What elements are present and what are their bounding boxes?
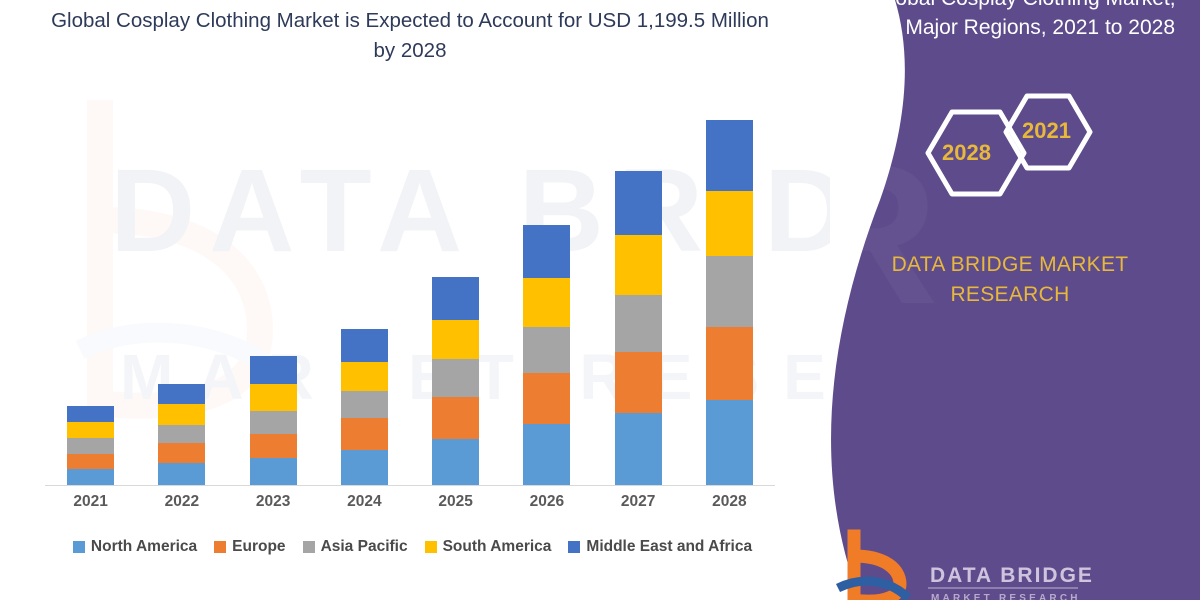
legend-swatch-icon	[425, 541, 437, 553]
bar-segment-asia-pacific	[615, 295, 662, 352]
x-axis-tick-label: 2027	[593, 493, 683, 511]
brand-name-text: DATA BRIDGE MARKET RESEARCH	[840, 250, 1180, 311]
chart-panel: DATA BRIDGE MARKET RESEARCH Global Cospl…	[0, 0, 830, 600]
bar-segment-north-america	[615, 413, 662, 485]
legend-swatch-icon	[303, 541, 315, 553]
bar-segment-middle-east-and-africa	[706, 120, 753, 191]
bar-segment-north-america	[67, 469, 114, 485]
stacked-bar	[615, 171, 662, 485]
bar-segment-south-america	[158, 404, 205, 425]
chart-title: Global Cosplay Clothing Market is Expect…	[40, 6, 780, 65]
bar-segment-europe	[250, 434, 297, 458]
stacked-bar	[250, 356, 297, 485]
x-axis-tick-label: 2026	[502, 493, 592, 511]
stacked-bar	[432, 277, 479, 485]
bar-column	[593, 120, 683, 485]
legend-label: Middle East and Africa	[586, 538, 752, 556]
x-axis-tick-label: 2022	[137, 493, 227, 511]
stacked-bar	[706, 120, 753, 485]
bar-segment-europe	[706, 327, 753, 400]
bar-segment-middle-east-and-africa	[432, 277, 479, 320]
bar-segment-asia-pacific	[432, 359, 479, 397]
bar-segment-middle-east-and-africa	[158, 384, 205, 405]
bar-chart-plot	[45, 120, 775, 485]
x-axis-tick-label: 2024	[319, 493, 409, 511]
legend-swatch-icon	[214, 541, 226, 553]
bar-column	[502, 120, 592, 485]
legend-label: North America	[91, 538, 197, 556]
bar-segment-asia-pacific	[158, 425, 205, 443]
bar-segment-europe	[67, 454, 114, 470]
bar-column	[137, 120, 227, 485]
bar-segment-north-america	[706, 400, 753, 485]
x-axis-labels: 20212022202320242025202620272028	[45, 493, 775, 511]
bar-segment-asia-pacific	[67, 438, 114, 454]
hexagon-group: 2028 2021	[910, 88, 1140, 218]
legend-item[interactable]: Middle East and Africa	[568, 538, 752, 556]
legend-item[interactable]: Asia Pacific	[303, 538, 408, 556]
bar-segment-europe	[523, 373, 570, 424]
hexagon-2021-label: 2021	[1022, 118, 1071, 144]
x-axis-line	[45, 485, 775, 486]
bar-column	[684, 120, 774, 485]
bar-segment-north-america	[158, 463, 205, 485]
bar-segment-middle-east-and-africa	[523, 225, 570, 278]
bar-column	[228, 120, 318, 485]
legend-label: Europe	[232, 538, 285, 556]
bar-column	[319, 120, 409, 485]
bar-segment-middle-east-and-africa	[615, 171, 662, 235]
legend-swatch-icon	[568, 541, 580, 553]
x-axis-tick-label: 2028	[684, 493, 774, 511]
x-axis-tick-label: 2025	[411, 493, 501, 511]
bar-segment-south-america	[615, 235, 662, 296]
legend-swatch-icon	[73, 541, 85, 553]
x-axis-tick-label: 2021	[46, 493, 136, 511]
bar-segment-europe	[341, 418, 388, 450]
footer-logo-subtitle: MARKET RESEARCH	[931, 593, 1081, 600]
bar-segment-europe	[432, 397, 479, 439]
bar-segment-north-america	[432, 439, 479, 485]
legend-item[interactable]: North America	[73, 538, 197, 556]
bar-segment-middle-east-and-africa	[250, 356, 297, 383]
bar-segment-north-america	[523, 424, 570, 485]
stacked-bar	[341, 329, 388, 485]
bar-segment-middle-east-and-africa	[67, 406, 114, 423]
legend-item[interactable]: South America	[425, 538, 552, 556]
bar-segment-south-america	[250, 384, 297, 411]
x-axis-tick-label: 2023	[228, 493, 318, 511]
bar-segment-asia-pacific	[523, 327, 570, 373]
bar-segment-south-america	[432, 320, 479, 360]
infographic-page: DATA BRIDGE MARKET RESEARCH Global Cospl…	[0, 0, 1200, 600]
bar-segment-north-america	[250, 458, 297, 485]
footer-logo-title: DATA BRIDGE	[930, 564, 1094, 588]
bar-segment-europe	[615, 352, 662, 413]
hexagon-2028-label: 2028	[942, 140, 991, 166]
bar-segment-south-america	[341, 362, 388, 391]
footer-logo-mark-icon	[830, 526, 1130, 600]
bar-segment-middle-east-and-africa	[341, 329, 388, 361]
legend-label: Asia Pacific	[321, 538, 408, 556]
bar-segment-south-america	[706, 191, 753, 256]
bar-segment-north-america	[341, 450, 388, 485]
bar-segment-asia-pacific	[341, 391, 388, 418]
bar-column	[46, 120, 136, 485]
brand-panel-title: Global Cosplay Clothing Market, By Major…	[860, 0, 1190, 43]
chart-legend: North AmericaEuropeAsia PacificSouth Ame…	[45, 538, 780, 556]
bar-segment-south-america	[67, 422, 114, 438]
stacked-bar	[67, 406, 114, 485]
stacked-bar	[523, 225, 570, 485]
bar-segment-asia-pacific	[706, 256, 753, 327]
bar-segment-asia-pacific	[250, 411, 297, 434]
stacked-bar	[158, 384, 205, 485]
bar-segment-south-america	[523, 278, 570, 327]
footer-logo: DATA BRIDGE MARKET RESEARCH	[830, 526, 1130, 600]
bar-column	[411, 120, 501, 485]
legend-item[interactable]: Europe	[214, 538, 285, 556]
legend-label: South America	[443, 538, 552, 556]
brand-panel: R Global Cosplay Clothing Market, By Maj…	[800, 0, 1200, 600]
bar-segment-europe	[158, 443, 205, 463]
